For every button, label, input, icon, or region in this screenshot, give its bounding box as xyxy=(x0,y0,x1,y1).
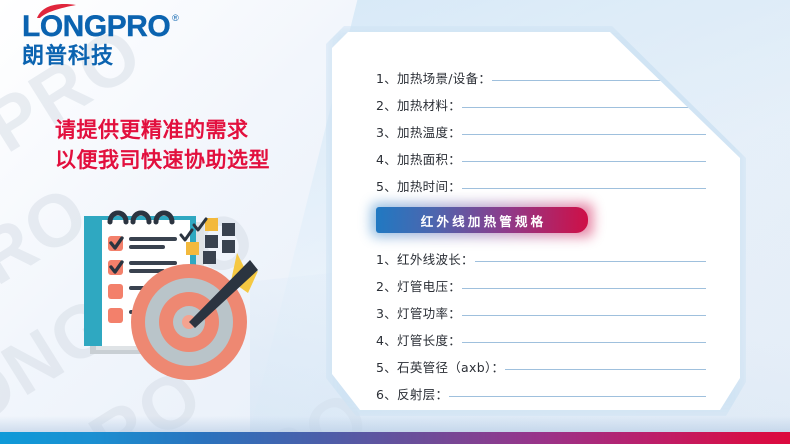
form-row-label: 1、加热场景/设备： xyxy=(376,68,491,87)
form-row-label: 4、灯管长度： xyxy=(376,330,461,349)
form-row[interactable]: 1、红外线波长： xyxy=(376,249,706,268)
registered-trademark-icon: ® xyxy=(172,13,179,23)
form-row-input-line[interactable] xyxy=(462,107,706,108)
slide-canvas: LONGPRO LONGPRO LONGPRO LONGPRO LONGPRO … xyxy=(0,0,790,444)
requirements-form-panel: 1、加热场景/设备： 2、加热材料： 3、加热温度： 4、加热面积： xyxy=(326,26,746,416)
section-banner-pill: 红外线加热管规格 xyxy=(376,207,588,233)
footer-gradient-bar xyxy=(0,432,790,444)
form-row[interactable]: 2、加热材料： xyxy=(376,95,706,114)
footer-bar-shadow xyxy=(0,416,790,432)
form-row-label: 6、反射层： xyxy=(376,384,448,403)
form-row-input-line[interactable] xyxy=(492,80,706,81)
form-row[interactable]: 4、加热面积： xyxy=(376,149,706,168)
form-row-input-line[interactable] xyxy=(462,342,706,343)
headline-line-1: 请提供更精准的需求 xyxy=(55,116,270,146)
headline: 请提供更精准的需求 以便我司快速协助选型 xyxy=(55,116,270,176)
form-row-label: 3、加热温度： xyxy=(376,122,461,141)
section-banner-label: 红外线加热管规格 xyxy=(418,211,547,230)
form-row-input-line[interactable] xyxy=(462,134,706,135)
form-row-input-line[interactable] xyxy=(462,315,706,316)
company-logo: LONGPRO ® 朗普科技 xyxy=(22,12,179,69)
form-row-label: 5、石英管径（axb）： xyxy=(376,357,504,376)
form-row[interactable]: 5、石英管径（axb）： xyxy=(376,357,706,376)
section-banner: 红外线加热管规格 xyxy=(376,207,588,233)
form-row-input-line[interactable] xyxy=(505,369,706,370)
form-row-label: 2、加热材料： xyxy=(376,95,461,114)
form-row-input-line[interactable] xyxy=(462,161,706,162)
logo-wordmark: LONGPRO xyxy=(22,12,170,42)
form-row-label: 2、灯管电压： xyxy=(376,276,461,295)
form-row-label: 3、灯管功率： xyxy=(376,303,461,322)
form-row-input-line[interactable] xyxy=(462,288,706,289)
checklist-dartboard-illustration xyxy=(82,198,297,388)
form-body: 1、加热场景/设备： 2、加热材料： 3、加热温度： 4、加热面积： xyxy=(376,68,706,444)
logo-wordmark-row: LONGPRO ® xyxy=(22,12,179,42)
form-row-label: 5、加热时间： xyxy=(376,176,461,195)
form-section-heating: 1、加热场景/设备： 2、加热材料： 3、加热温度： 4、加热面积： xyxy=(376,68,706,195)
form-row[interactable]: 3、灯管功率： xyxy=(376,303,706,322)
form-row[interactable]: 2、灯管电压： xyxy=(376,276,706,295)
form-row-label: 1、红外线波长： xyxy=(376,249,474,268)
form-row-input-line[interactable] xyxy=(462,188,706,189)
form-row-input-line[interactable] xyxy=(449,396,706,397)
form-row-label: 4、加热面积： xyxy=(376,149,461,168)
logo-chinese-name: 朗普科技 xyxy=(22,45,179,69)
form-row[interactable]: 3、加热温度： xyxy=(376,122,706,141)
panel-surface: 1、加热场景/设备： 2、加热材料： 3、加热温度： 4、加热面积： xyxy=(332,32,740,410)
form-row[interactable]: 5、加热时间： xyxy=(376,176,706,195)
headline-line-2: 以便我司快速协助选型 xyxy=(55,146,270,176)
form-row-input-line[interactable] xyxy=(475,261,706,262)
form-row[interactable]: 4、灯管长度： xyxy=(376,330,706,349)
form-row[interactable]: 6、反射层： xyxy=(376,384,706,403)
